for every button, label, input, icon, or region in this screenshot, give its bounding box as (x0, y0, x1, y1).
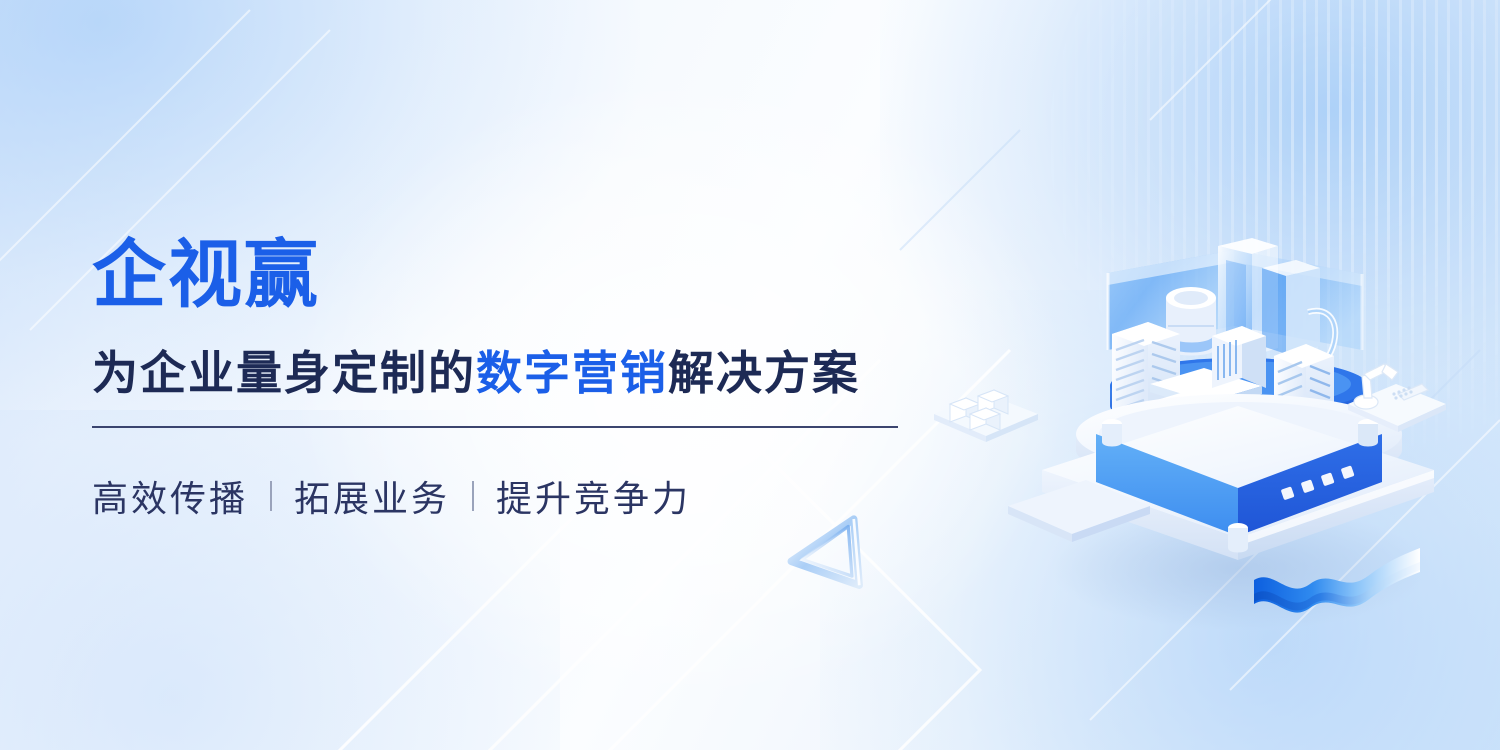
tagline-item-2: 拓展业务 (294, 470, 450, 522)
cylinder-silo (1166, 287, 1216, 356)
background-glow-bottom-right (820, 290, 1500, 750)
background-stripe-texture (1030, 0, 1500, 470)
building-block-module (920, 352, 1050, 452)
ribbed-block (1212, 326, 1266, 388)
banner-text-block: 企视赢 为企业量身定制的数字营销解决方案 高效传播 拓展业务 提升竞争力 (92, 238, 912, 522)
rear-blue-slab (1262, 260, 1320, 354)
corner-pins (1102, 419, 1378, 553)
robot-arm-module (1336, 342, 1456, 442)
headline-lead: 为企业量身定制的 (92, 347, 476, 399)
white-building-left (1112, 322, 1180, 428)
chip-base-board (1042, 406, 1434, 560)
glass-triangle-icon (782, 508, 874, 600)
white-rounded-tray (1076, 394, 1402, 480)
tagline-item-3: 提升竞争力 (496, 470, 691, 522)
glass-tower (1218, 238, 1278, 356)
marketing-banner: 企视赢 为企业量身定制的数字营销解决方案 高效传播 拓展业务 提升竞争力 (0, 0, 1500, 750)
flat-plate (1008, 480, 1150, 542)
white-building-right (1274, 344, 1334, 446)
isometric-platform-illustration (990, 238, 1470, 638)
tagline-separator-icon (472, 481, 474, 511)
platform-shadow (1050, 506, 1430, 630)
blue-glass-backdrop-panel (1108, 250, 1362, 350)
divider-rule (92, 426, 898, 428)
headline-tail: 解决方案 (668, 347, 860, 399)
blue-disc-platform (1110, 358, 1368, 427)
tagline-separator-icon (270, 481, 272, 511)
headline-accent: 数字营销 (476, 347, 668, 399)
led-indicators (1281, 465, 1355, 500)
background-glow-top-right (880, 0, 1500, 520)
glass-arch (1308, 311, 1335, 390)
brand-title: 企视赢 (92, 238, 912, 312)
stacked-layers (1150, 368, 1262, 464)
glass-arch-tint (1308, 311, 1335, 390)
tagline-item-1: 高效传播 (92, 470, 248, 522)
headline: 为企业量身定制的数字营销解决方案 (92, 348, 912, 400)
tagline: 高效传播 拓展业务 提升竞争力 (92, 470, 912, 522)
blue-ribbon-wave (1248, 528, 1428, 628)
chip-blue-band (1096, 384, 1382, 536)
